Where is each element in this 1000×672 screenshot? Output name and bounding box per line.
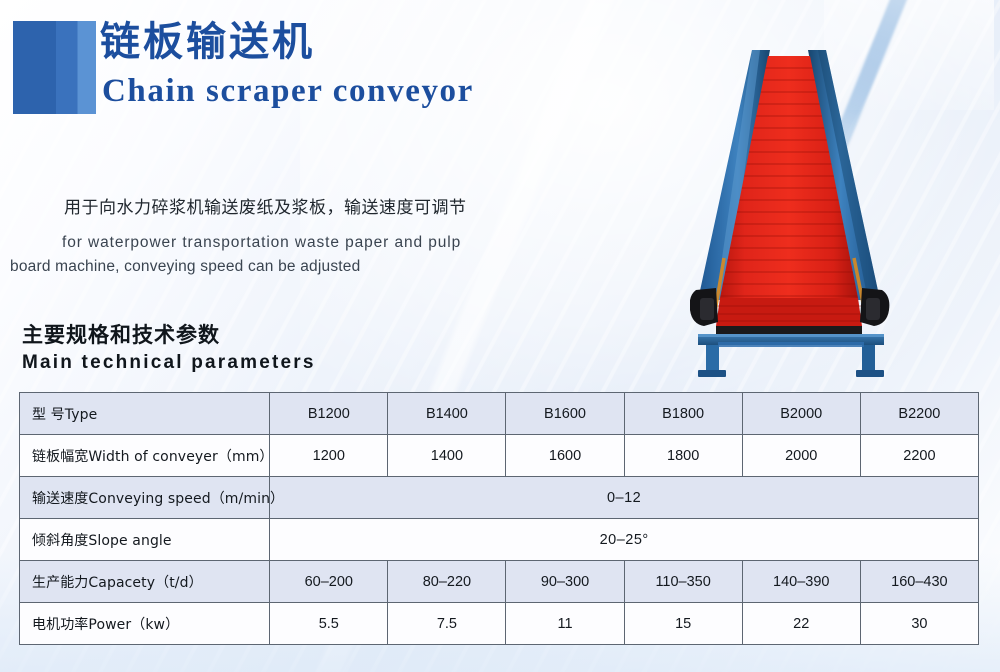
cell-width-b1200: 1200	[270, 435, 388, 477]
page-title-chinese: 链板输送机	[100, 22, 315, 62]
row-label-speed: 输送速度Conveying speed（m/min）	[20, 477, 270, 519]
cell-width-b1800: 1800	[624, 435, 742, 477]
cell-type-b1400: B1400	[388, 393, 506, 435]
row-label-capacity: 生产能力Capacety（t/d）	[20, 561, 270, 603]
background-corner-highlight	[824, 0, 994, 110]
background-corner-band-icon	[818, 0, 930, 184]
cell-width-b2000: 2000	[742, 435, 860, 477]
cell-width-b1600: 1600	[506, 435, 624, 477]
description-english-line-1: for waterpower transportation waste pape…	[0, 231, 600, 255]
section-heading: 主要规格和技术参数 Main technical parameters	[22, 322, 316, 376]
table-row-slope: 倾斜角度Slope angle 20–25°	[20, 519, 979, 561]
cell-slope-all: 20–25°	[270, 519, 979, 561]
table-row-capacity: 生产能力Capacety（t/d） 60–200 80–220 90–300 1…	[20, 561, 979, 603]
cell-power-b2200: 30	[860, 603, 978, 645]
cell-capacity-b1600: 90–300	[506, 561, 624, 603]
spec-table-body: 型 号Type B1200 B1400 B1600 B1800 B2000 B2…	[20, 393, 979, 645]
cell-power-b2000: 22	[742, 603, 860, 645]
row-label-slope: 倾斜角度Slope angle	[20, 519, 270, 561]
cell-type-b1600: B1600	[506, 393, 624, 435]
cell-type-b2200: B2200	[860, 393, 978, 435]
logo-mark-icon	[13, 21, 96, 114]
cell-type-b1200: B1200	[270, 393, 388, 435]
cell-power-b1600: 11	[506, 603, 624, 645]
cell-width-b1400: 1400	[388, 435, 506, 477]
cell-capacity-b1200: 60–200	[270, 561, 388, 603]
cell-type-b2000: B2000	[742, 393, 860, 435]
section-heading-english: Main technical parameters	[22, 350, 316, 376]
row-label-type: 型 号Type	[20, 393, 270, 435]
cell-capacity-b1400: 80–220	[388, 561, 506, 603]
cell-power-b1400: 7.5	[388, 603, 506, 645]
row-label-power: 电机功率Power（kw）	[20, 603, 270, 645]
cell-power-b1800: 15	[624, 603, 742, 645]
cell-capacity-b2000: 140–390	[742, 561, 860, 603]
description-english-line-2: board machine, conveying speed can be ad…	[0, 255, 600, 279]
description-chinese: 用于向水力碎浆机输送废纸及浆板，输送速度可调节	[0, 196, 600, 222]
cell-power-b1200: 5.5	[270, 603, 388, 645]
specification-table: 型 号Type B1200 B1400 B1600 B1800 B2000 B2…	[19, 392, 979, 645]
table-row-power: 电机功率Power（kw） 5.5 7.5 11 15 22 30	[20, 603, 979, 645]
product-photo-conveyor	[690, 8, 990, 378]
cell-capacity-b1800: 110–350	[624, 561, 742, 603]
row-label-width: 链板幅宽Width of conveyer（mm）	[20, 435, 270, 477]
cell-speed-all: 0–12	[270, 477, 979, 519]
page-header: 链板输送机 Chain scraper conveyor	[0, 0, 620, 130]
page-title-english: Chain scraper conveyor	[102, 75, 474, 108]
description-block: 用于向水力碎浆机输送废纸及浆板，输送速度可调节 for waterpower t…	[0, 196, 600, 279]
table-row-type: 型 号Type B1200 B1400 B1600 B1800 B2000 B2…	[20, 393, 979, 435]
table-row-speed: 输送速度Conveying speed（m/min） 0–12	[20, 477, 979, 519]
page-root: 链板输送机 Chain scraper conveyor 用于向水力碎浆机输送废…	[0, 0, 1000, 672]
cell-capacity-b2200: 160–430	[860, 561, 978, 603]
cell-width-b2200: 2200	[860, 435, 978, 477]
cell-type-b1800: B1800	[624, 393, 742, 435]
table-row-width: 链板幅宽Width of conveyer（mm） 1200 1400 1600…	[20, 435, 979, 477]
section-heading-chinese: 主要规格和技术参数	[22, 322, 316, 348]
